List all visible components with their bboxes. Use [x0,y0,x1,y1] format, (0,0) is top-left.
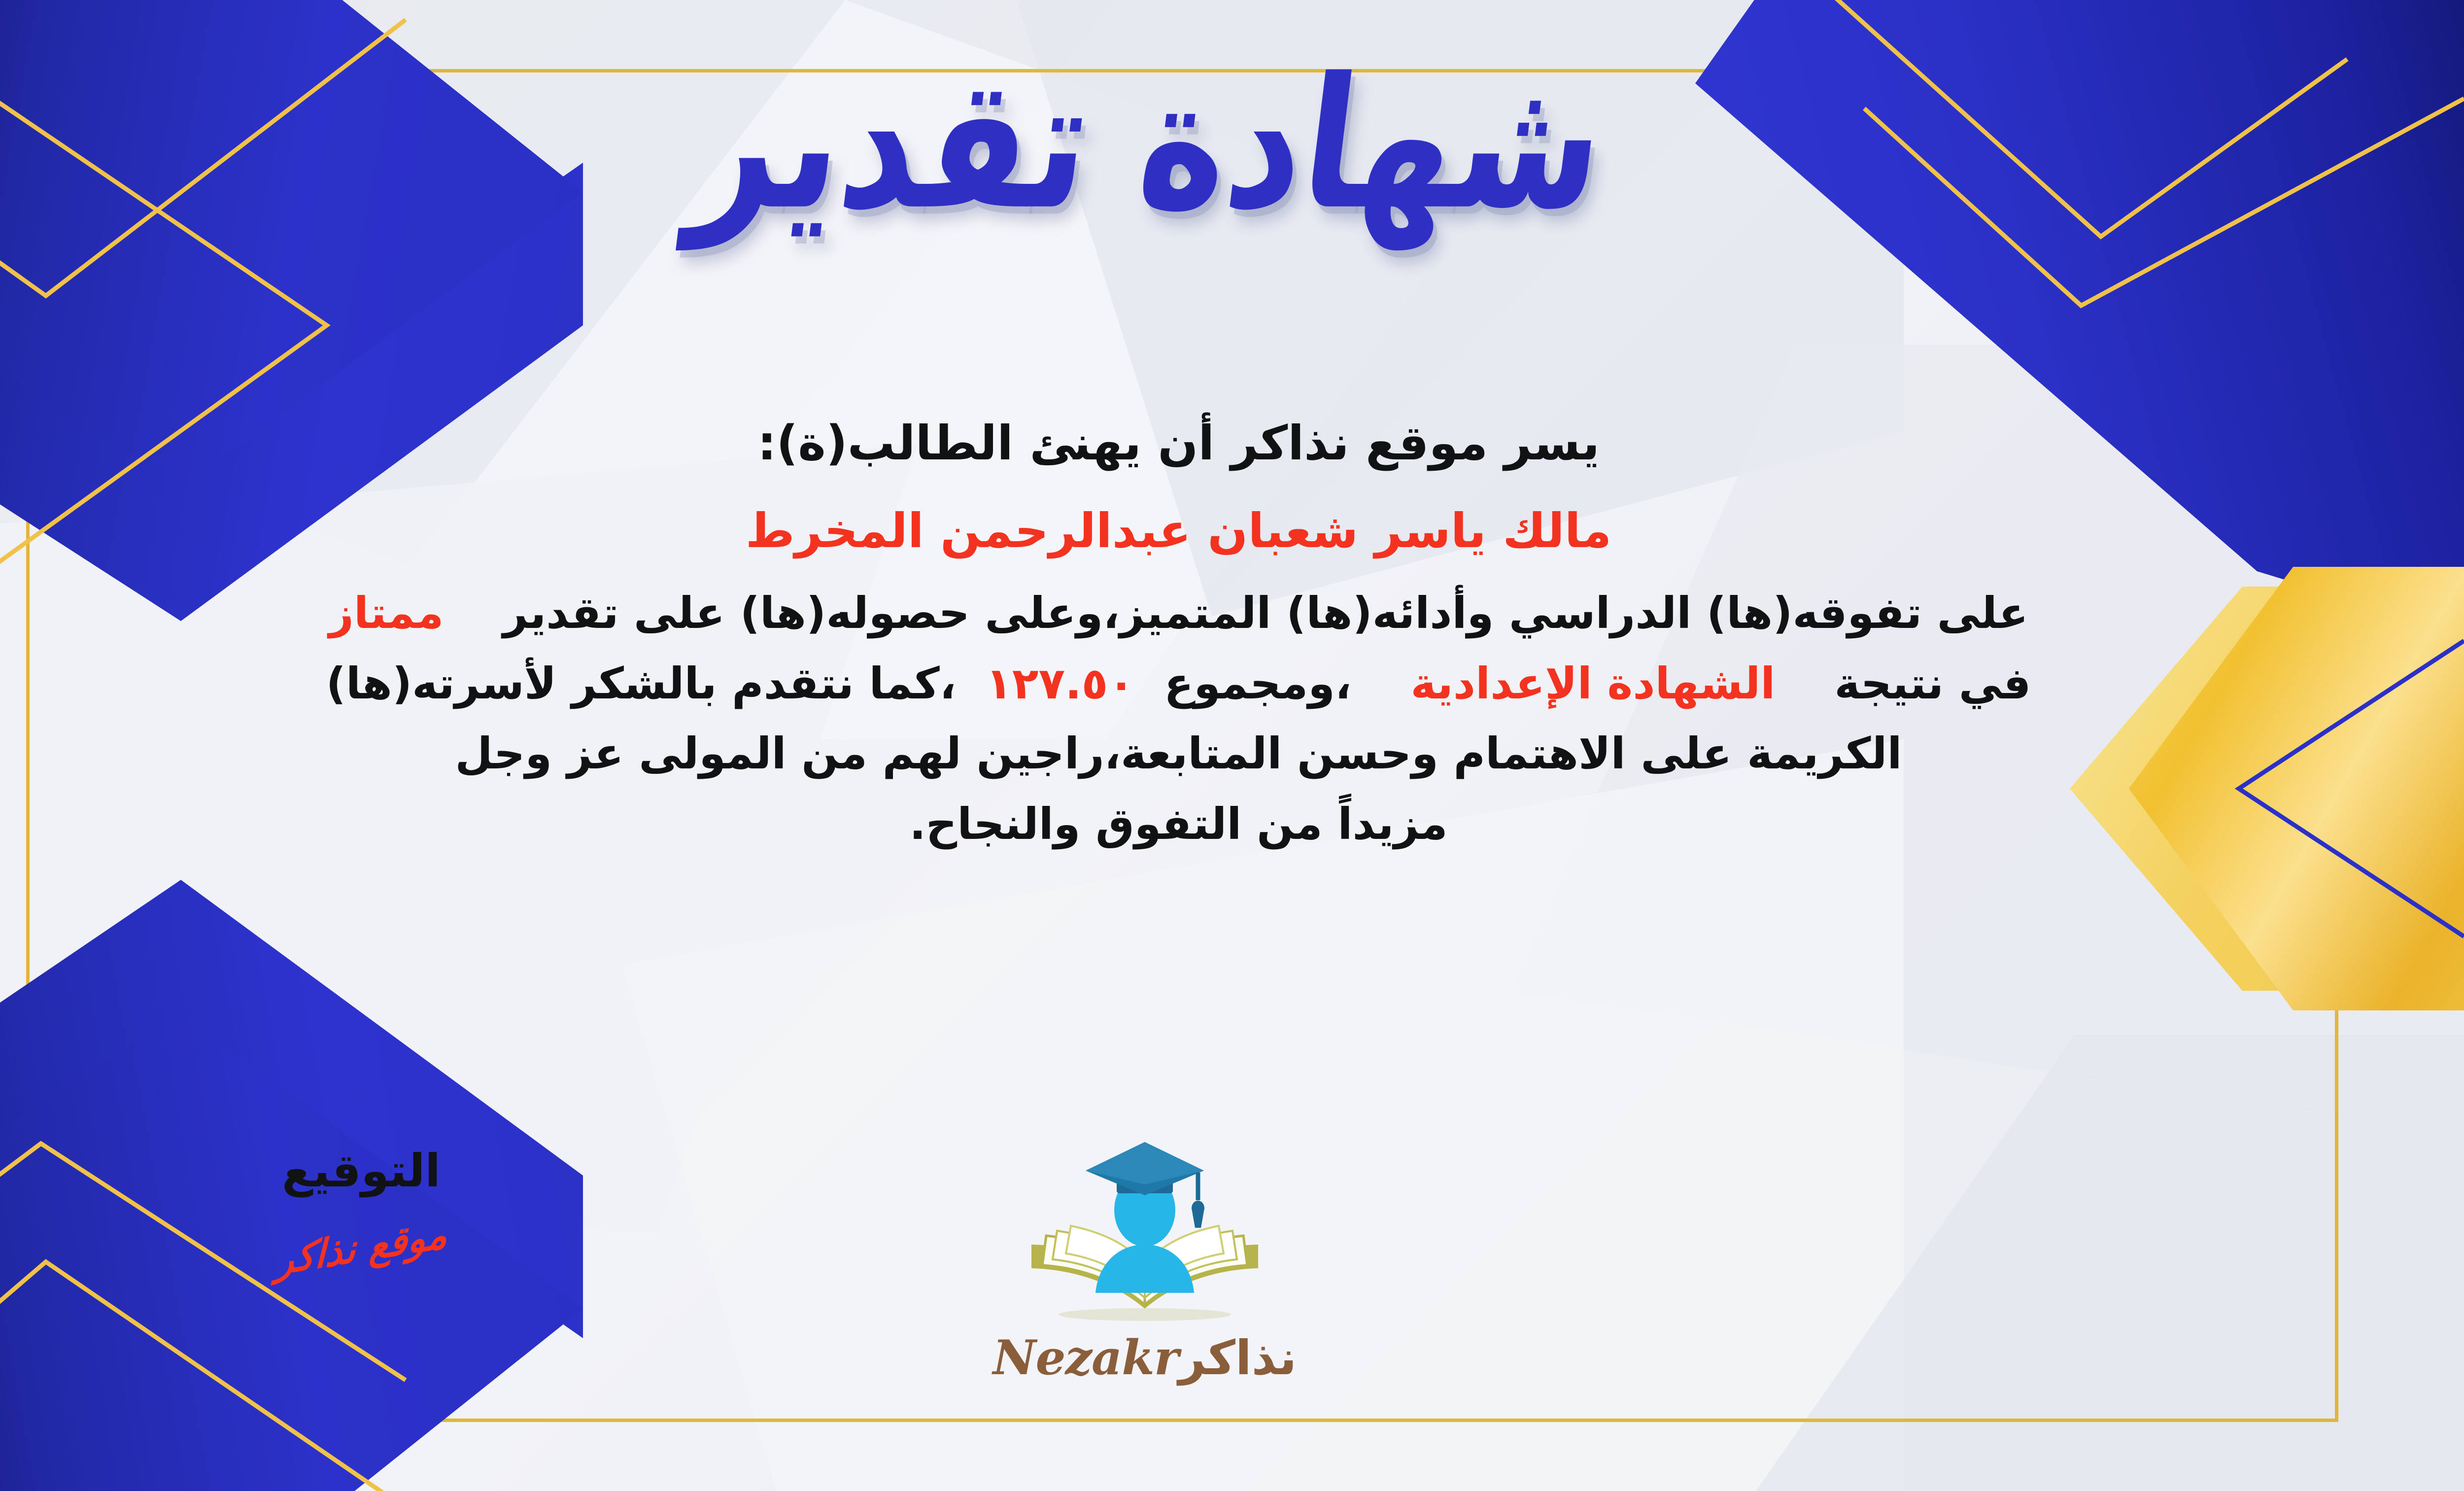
grade-value: ممتاز [329,588,444,638]
intro-line: يسر موقع نذاكر أن يهنئ الطالب(ة): [41,409,2316,478]
logo-wordmark: نذاكرNezakr [962,1334,1327,1382]
nezakr-logo: نذاكرNezakr [962,1121,1327,1427]
citation-line-4: مزيداً من التفوق والنجاح. [909,798,1447,849]
citation-part-3: ،ومجموع [1164,658,1351,709]
citation-part-1: على تفوقه(ها) الدراسي وأدائه(ها) المتميز… [503,588,2028,638]
graduate-figure [1086,1142,1204,1293]
citation-line-3: الكريمة على الاهتمام وحسن المتابعة،راجين… [455,728,1902,779]
logo-name-english: Nezakr [993,1330,1179,1386]
signature-block: التوقيع موقع نذاكر [208,1148,514,1270]
citation-paragraph: على تفوقه(ها) الدراسي وأدائه(ها) المتميز… [41,578,2316,859]
logo-name-arabic: نذاكر [1178,1330,1297,1386]
exam-name: الشهادة الإعدادية [1410,658,1775,709]
citation-part-4: ،كما نتقدم بالشكر لأسرته(ها) [326,658,957,709]
graduate-book-icon [997,1121,1293,1333]
certificate-body: يسر موقع نذاكر أن يهنئ الطالب(ة): مالك ي… [41,409,2316,859]
signature-label: التوقيع [208,1148,514,1194]
student-name: مالك ياسر شعبان عبدالرحمن المخرط [41,503,2316,558]
total-score: ١٢٧.٥٠ [986,658,1134,709]
citation-part-2: في نتيجة [1834,658,2031,709]
certificate-canvas: شهادة تقدير يسر موقع نذاكر أن يهنئ الطال… [0,0,2464,1491]
